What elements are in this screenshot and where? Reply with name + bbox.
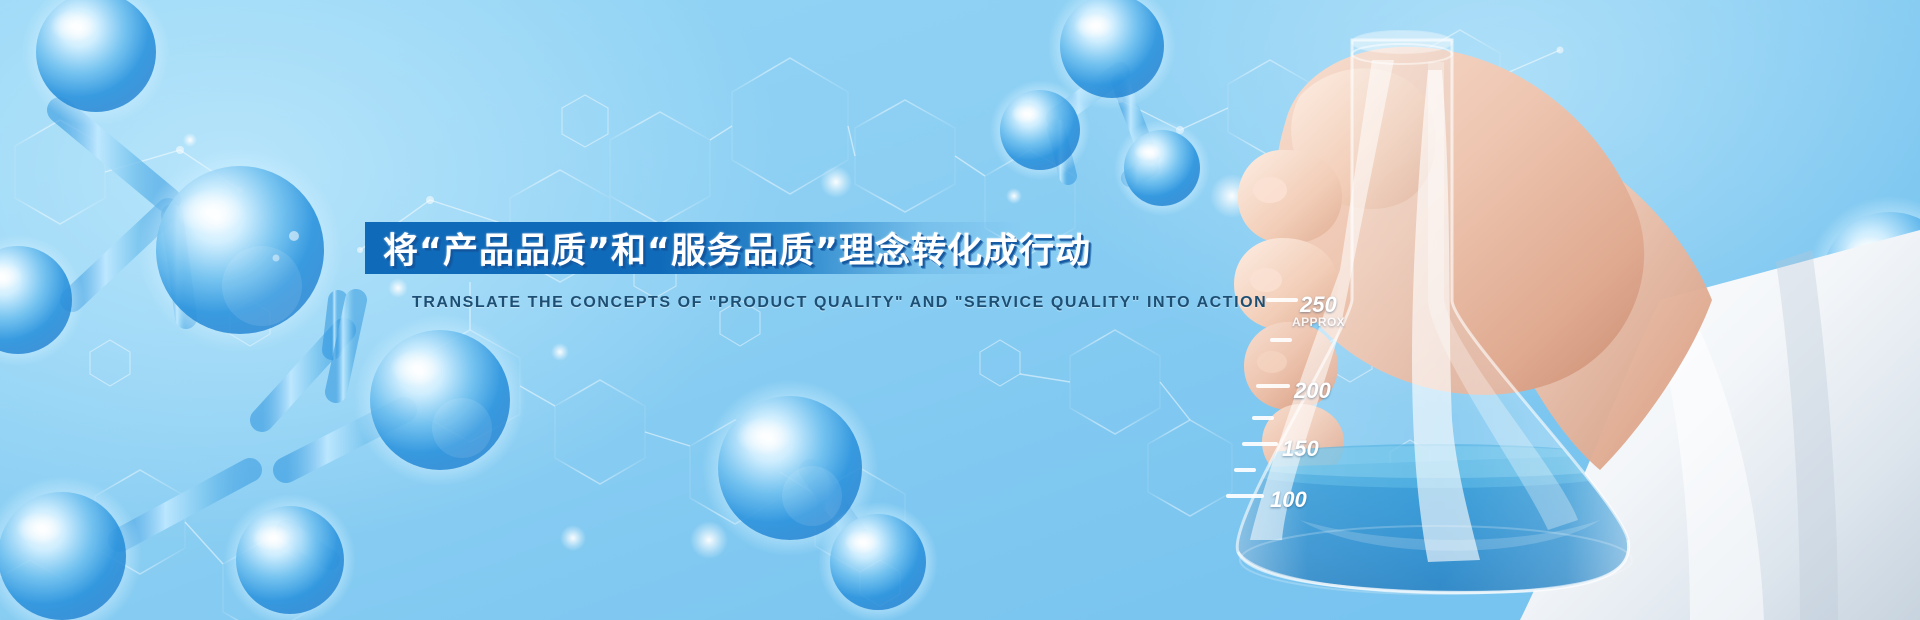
headline-title: 将“产品品质”和“服务品质”理念转化成行动 <box>383 223 1091 274</box>
science-banner: 250 APPROX 200 150 100 将“产品品质”和“服务品质”理念转… <box>0 0 1920 620</box>
headline-block: 将“产品品质”和“服务品质”理念转化成行动 <box>365 222 1065 274</box>
headline-subtitle: TRANSLATE THE CONCEPTS OF "PRODUCT QUALI… <box>412 294 1267 312</box>
